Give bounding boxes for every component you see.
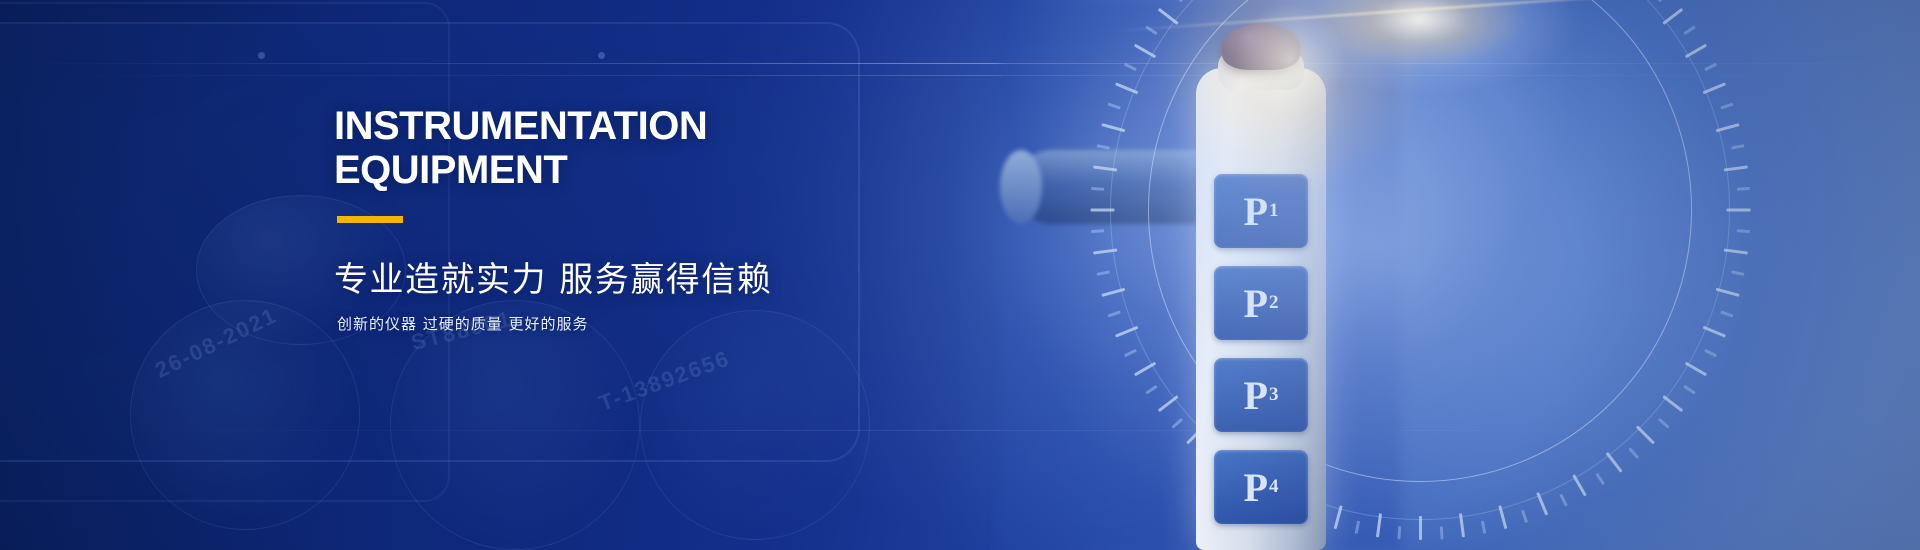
headline-line-1: INSTRUMENTATION (334, 104, 772, 148)
ghost-screw-icon (598, 52, 605, 59)
instrument-photo: P1 P2 P3 P4 (960, 0, 1920, 550)
accent-divider (337, 216, 403, 223)
ghost-lens-shape (640, 310, 870, 540)
page-title: INSTRUMENTATION EQUIPMENT (334, 104, 772, 192)
tagline-chinese: 专业造就实力 服务赢得信赖 (334, 252, 772, 301)
hero-banner: 26-08-2021 ST88001 T-13892656 P1 P2 P3 P… (0, 0, 1920, 550)
lens-flare (1260, 0, 1580, 94)
headline-line-2: EQUIPMENT (334, 148, 772, 192)
ghost-screw-icon (258, 52, 265, 59)
subtitle-chinese: 创新的仪器 过硬的质量 更好的服务 (337, 313, 772, 334)
banner-copy: INSTRUMENTATION EQUIPMENT 专业造就实力 服务赢得信赖 … (334, 104, 772, 334)
